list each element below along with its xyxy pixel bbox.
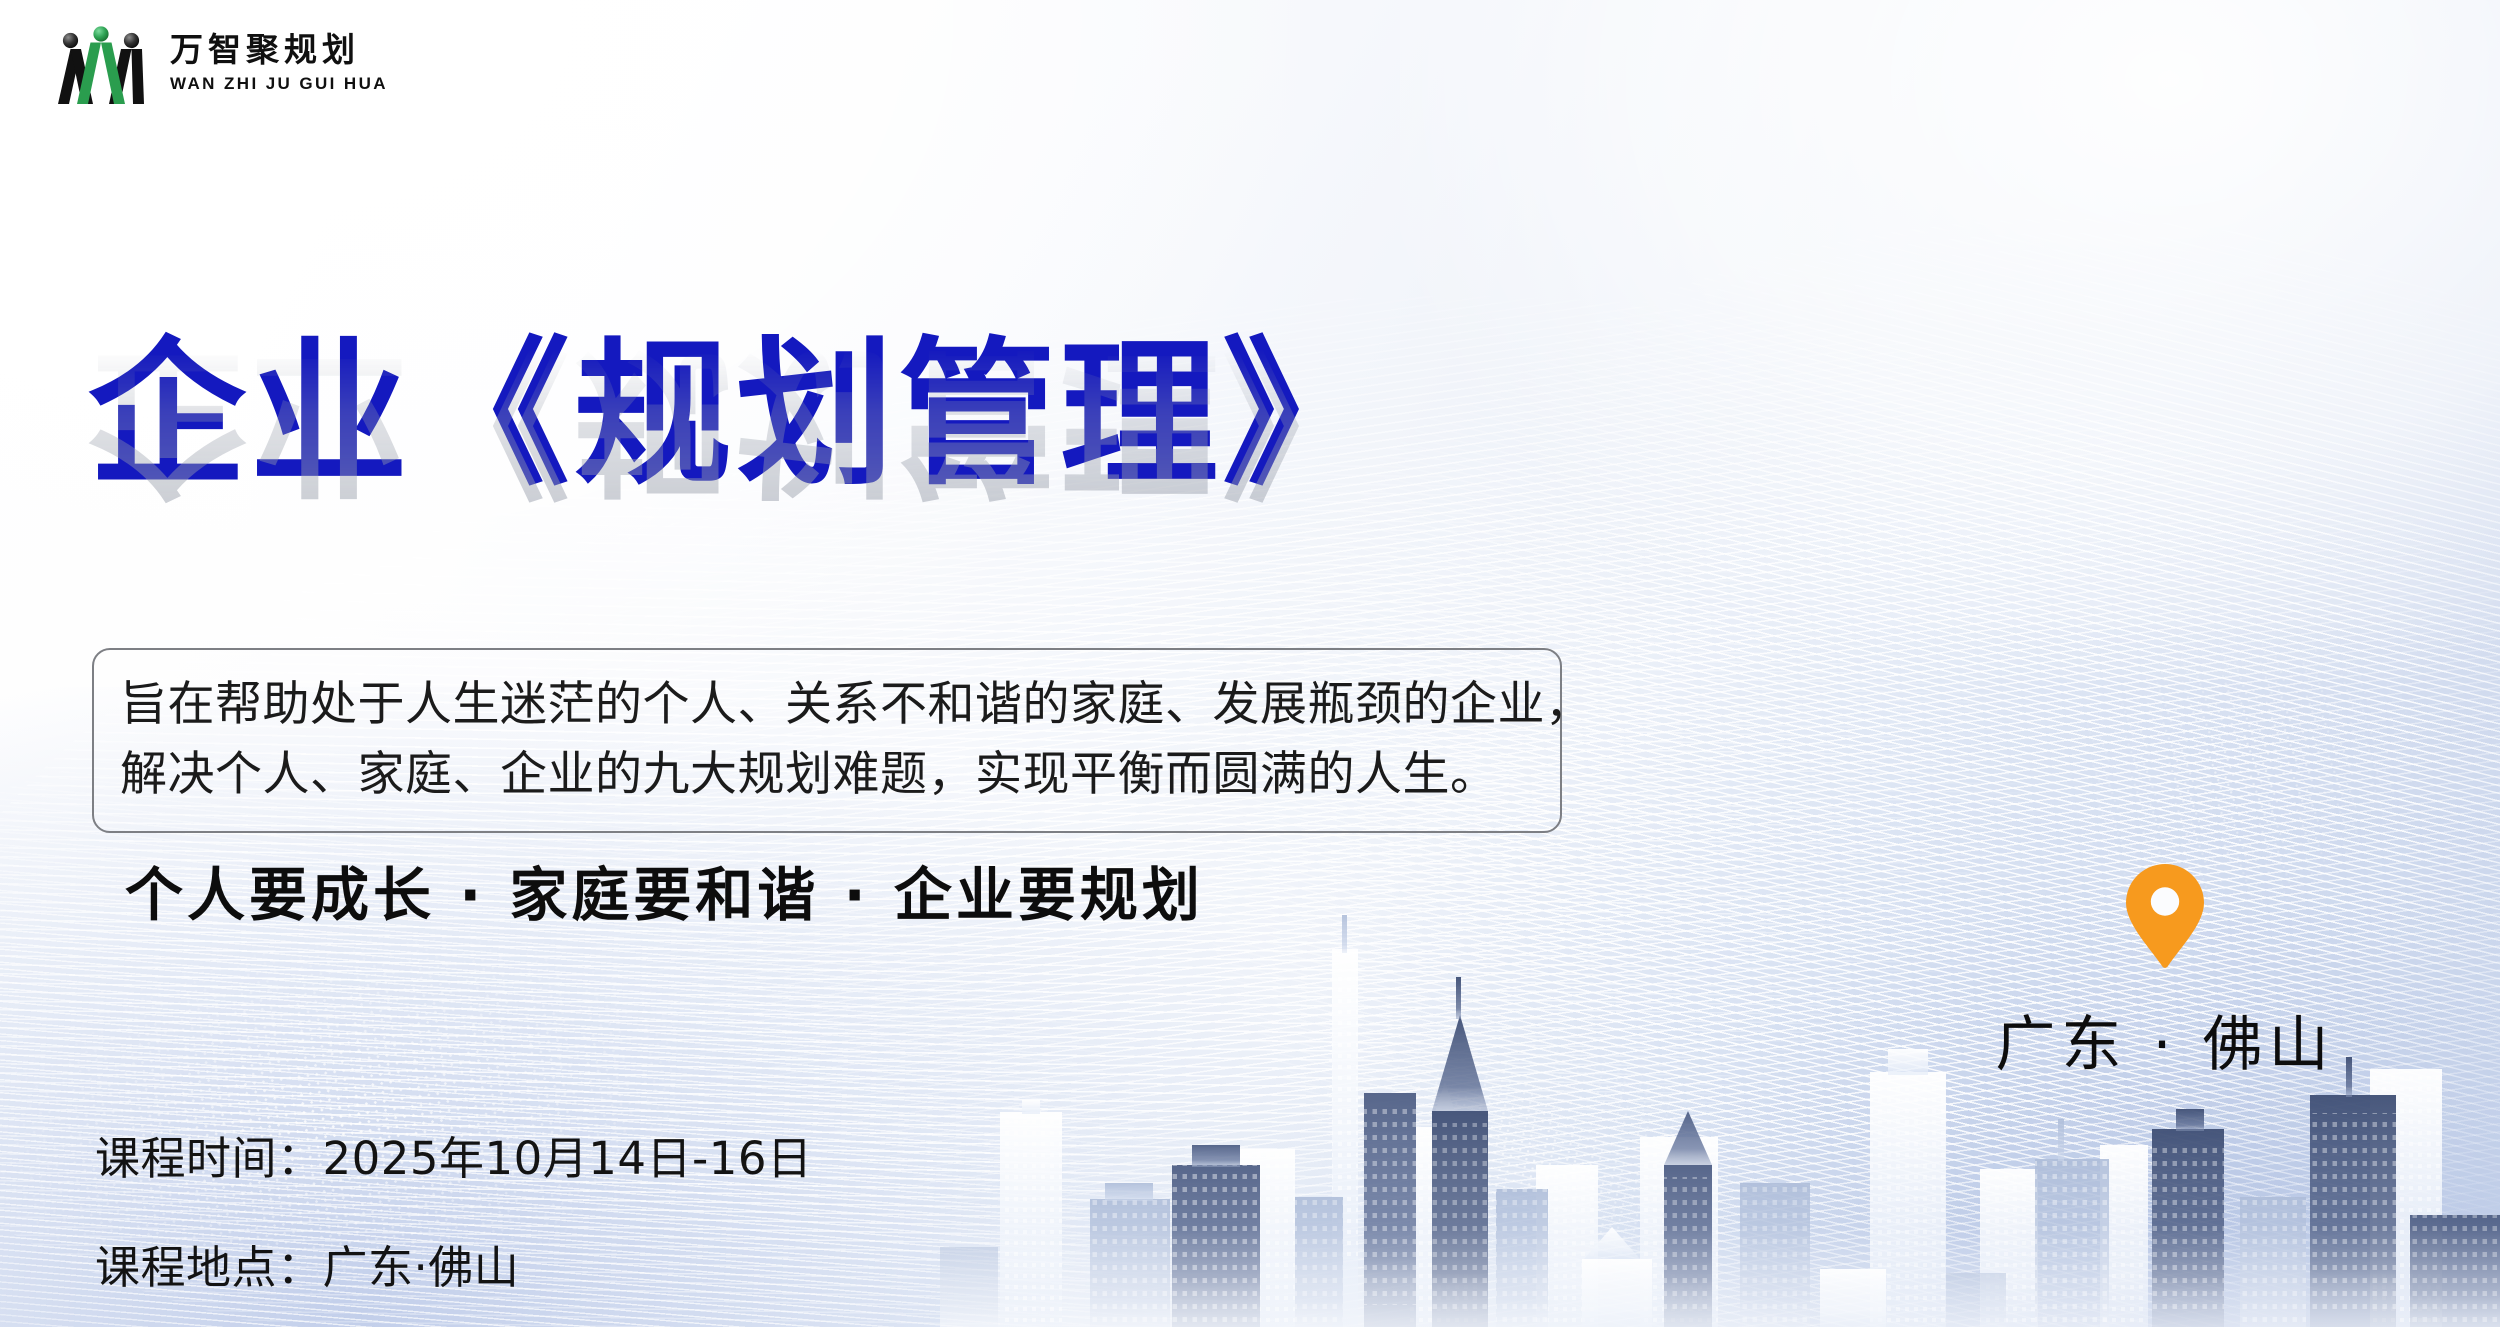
brand-logo[interactable]: 万智聚规划 WAN ZHI JU GUI HUA <box>46 18 388 106</box>
page-title-reflection: 企业《规划管理》 <box>88 334 1688 505</box>
map-pin-icon <box>2124 862 2206 970</box>
course-place-row: 课程地点：广东·佛山 <box>95 1231 813 1296</box>
three-people-logo-icon <box>46 18 156 106</box>
tagline: 个人要成长 · 家庭要和谐 · 企业要规划 <box>125 848 1204 932</box>
promo-banner: 万智聚规划 WAN ZHI JU GUI HUA 企业《规划管理》 企业《规划管… <box>0 0 2500 1327</box>
location-label: 广东 · 佛山 <box>1955 996 2375 1083</box>
brand-text: 万智聚规划 WAN ZHI JU GUI HUA <box>170 33 388 92</box>
course-time-row: 课程时间：2025年10月14日-16日 <box>95 1122 813 1187</box>
hero-title-block: 企业《规划管理》 企业《规划管理》 <box>88 330 1688 675</box>
description-line-2: 解决个人、家庭、企业的九大规划难题，实现平衡而圆满的人生。 <box>120 740 1534 810</box>
description-box: 旨在帮助处于人生迷茫的个人、关系不和谐的家庭、发展瓶颈的企业， 解决个人、家庭、… <box>92 648 1562 833</box>
location-block: 广东 · 佛山 <box>1955 862 2375 1083</box>
course-info: 课程时间：2025年10月14日-16日 课程地点：广东·佛山 <box>95 1122 813 1296</box>
brand-name-cn: 万智聚规划 <box>170 33 388 66</box>
description-line-1: 旨在帮助处于人生迷茫的个人、关系不和谐的家庭、发展瓶颈的企业， <box>120 670 1534 740</box>
brand-name-pinyin: WAN ZHI JU GUI HUA <box>170 75 388 92</box>
